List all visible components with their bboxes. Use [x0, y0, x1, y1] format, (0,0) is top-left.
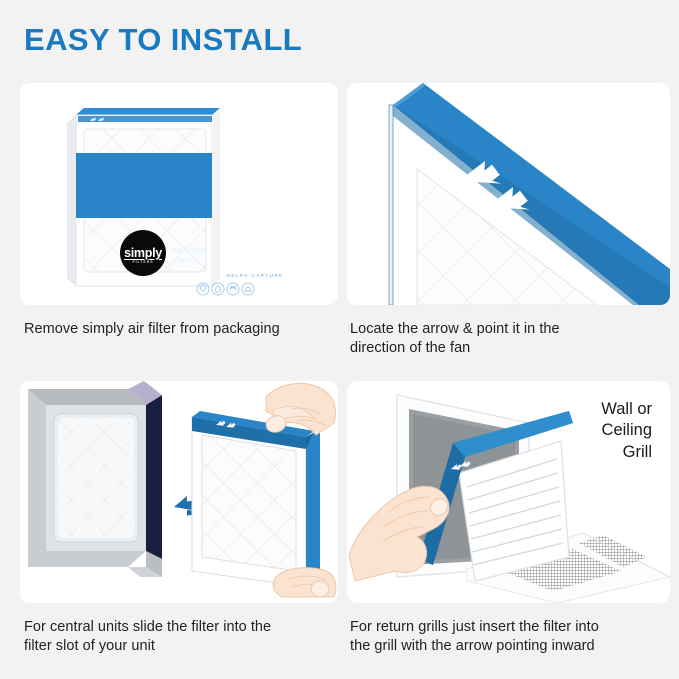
wall-or-ceiling-grill-label: Wall or Ceiling Grill — [601, 399, 652, 463]
infographic-page: EASY TO INSTALL — [0, 0, 679, 679]
step-2-illustration-card — [347, 83, 670, 305]
capture-icons-row — [196, 281, 260, 297]
step-1-caption: Remove simply air filter from packaging — [24, 320, 336, 339]
packaging-tagline: BREATHE SIMPLY — [172, 247, 205, 266]
packaging-label-text: simply FILTERS BREATHE SIMPLY M E R V 8 … — [20, 83, 338, 305]
helps-capture-label: HELPS CAPTURE — [217, 273, 293, 278]
brand-name: simply — [120, 246, 166, 260]
brand-subtitle: FILTERS — [120, 260, 166, 264]
step-4-illustration-card: Wall or Ceiling Grill — [347, 381, 670, 603]
merv-rating-number: 8 — [215, 211, 291, 273]
page-title: EASY TO INSTALL — [24, 24, 302, 55]
step-1-illustration-card: simply FILTERS BREATHE SIMPLY M E R V 8 … — [20, 83, 338, 305]
step-3-illustration-card — [20, 381, 338, 603]
step-4-caption: For return grills just insert the filter… — [350, 618, 672, 656]
step-3-caption: For central units slide the filter into … — [24, 618, 338, 656]
filter-edge-with-arrows-illustration — [347, 83, 670, 305]
filter-sliding-into-unit-illustration — [20, 381, 338, 603]
step-2-caption: Locate the arrow & point it in the direc… — [350, 320, 668, 358]
